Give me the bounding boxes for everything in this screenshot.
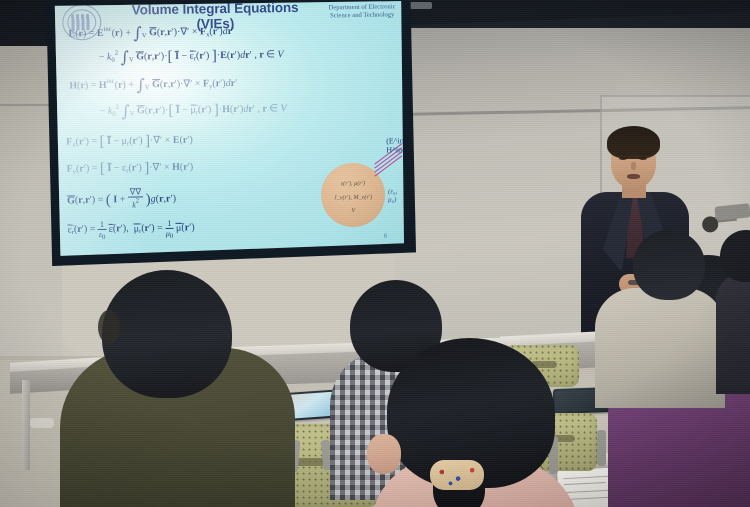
far-right-torso [716,274,750,394]
presenter-nose [631,162,636,170]
ponytail-face-edge [367,434,401,474]
lecture-hall-scene: Volume Integral Equations (VIEs) Departm… [0,0,750,507]
beige-jacket-head [633,230,705,300]
presenter-brow-right [637,152,650,155]
hair-scrunchie [430,460,484,490]
projection-screen: Volume Integral Equations (VIEs) Departm… [52,0,404,258]
presenter-brow-left [617,152,630,155]
presenter-eye-left [619,157,627,160]
olive-jacket-head [102,270,232,398]
ceiling-light-reflection [410,2,432,9]
screen-vignette [52,0,404,258]
presenter-hair [607,126,660,159]
presenter-mouth [627,174,640,179]
beige-jacket-torso [595,288,725,408]
presenter-eye-right [639,157,647,160]
olive-jacket-ear [98,310,120,344]
chair-leg-4 [597,430,606,466]
desk-hook-left [30,418,54,428]
desk-leg-3 [22,380,30,470]
